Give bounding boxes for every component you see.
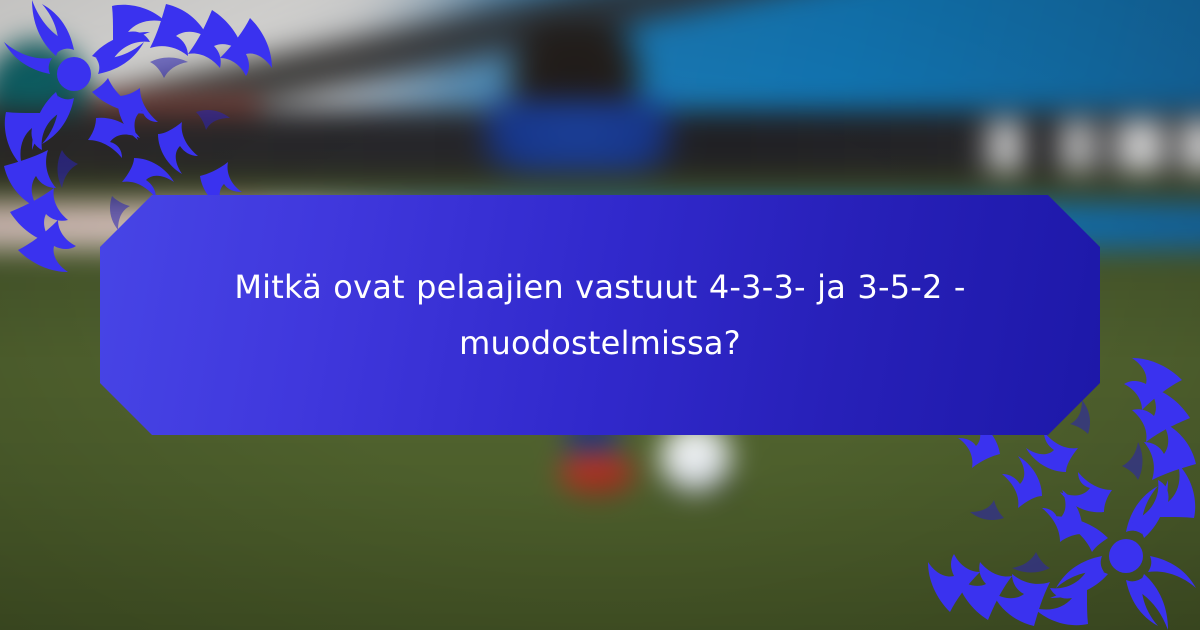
page-title: Mitkä ovat pelaajien vastuut 4-3-3- ja 3…: [210, 259, 990, 371]
headline-banner: Mitkä ovat pelaajien vastuut 4-3-3- ja 3…: [100, 195, 1100, 435]
share-card: Mitkä ovat pelaajien vastuut 4-3-3- ja 3…: [0, 0, 1200, 630]
